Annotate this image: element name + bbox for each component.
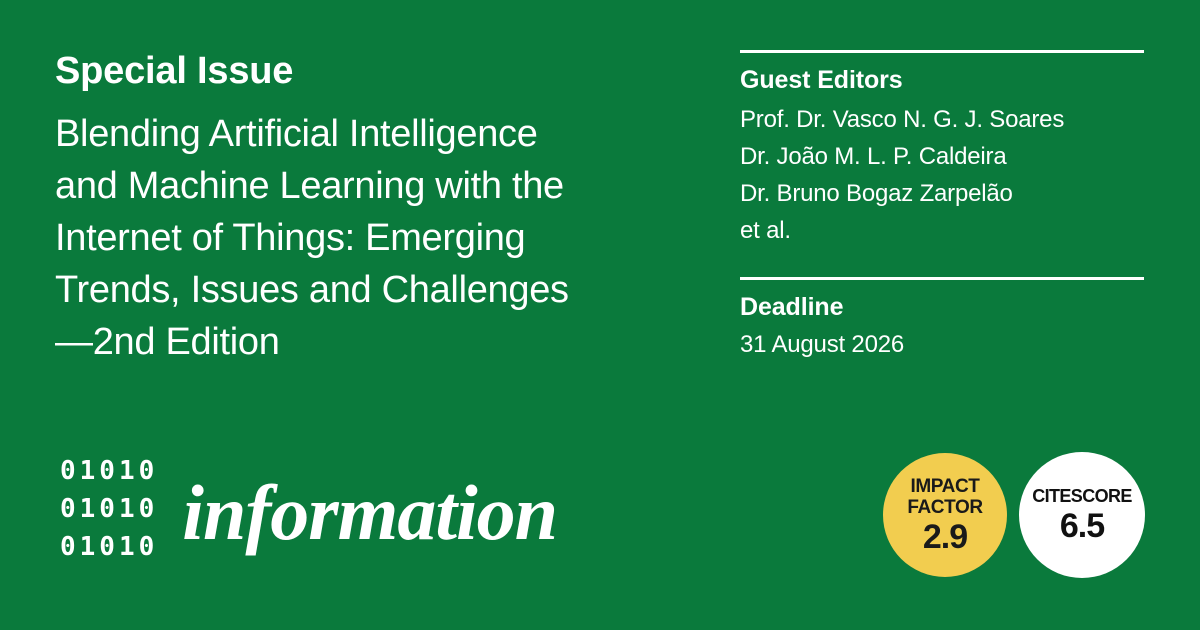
title-line: —2nd Edition xyxy=(55,321,280,363)
deadline-heading: Deadline xyxy=(740,292,1144,322)
citescore-badge: CITESCORE 6.5 xyxy=(1019,452,1145,578)
binary-row: 01010 xyxy=(60,528,158,566)
title-line: Blending Artificial Intelligence xyxy=(55,113,538,155)
journal-logo: 01010 01010 01010 information xyxy=(60,452,557,566)
issue-info-column: Special Issue Blending Artificial Intell… xyxy=(55,48,695,368)
divider-deadline xyxy=(740,277,1144,280)
title-line: and Machine Learning with the xyxy=(55,165,564,207)
list-item: et al. xyxy=(740,212,1144,249)
editorial-details-column: Guest Editors Prof. Dr. Vasco N. G. J. S… xyxy=(740,50,1144,362)
list-item: Prof. Dr. Vasco N. G. J. Soares xyxy=(740,101,1144,138)
title-line: Trends, Issues and Challenges xyxy=(55,269,569,311)
list-item: Dr. Bruno Bogaz Zarpelão xyxy=(740,175,1144,212)
deadline-date: 31 August 2026 xyxy=(740,328,1144,362)
guest-editors-list: Prof. Dr. Vasco N. G. J. Soares Dr. João… xyxy=(740,101,1144,249)
impact-factor-badge: IMPACT FACTOR 2.9 xyxy=(883,453,1007,577)
citescore-label: CITESCORE xyxy=(1032,486,1132,507)
list-item: Dr. João M. L. P. Caldeira xyxy=(740,138,1144,175)
impact-factor-label: IMPACT FACTOR xyxy=(907,476,982,518)
binary-row: 01010 xyxy=(60,490,158,528)
guest-editors-block: Guest Editors Prof. Dr. Vasco N. G. J. S… xyxy=(740,65,1144,249)
deadline-block: Deadline 31 August 2026 xyxy=(740,277,1144,362)
binary-row: 01010 xyxy=(60,452,158,490)
title-line: Internet of Things: Emerging xyxy=(55,217,525,259)
special-issue-poster: Special Issue Blending Artificial Intell… xyxy=(0,0,1200,630)
binary-pattern-icon: 01010 01010 01010 xyxy=(60,452,158,566)
impact-factor-value: 2.9 xyxy=(923,519,967,555)
guest-editors-heading: Guest Editors xyxy=(740,65,1144,95)
journal-wordmark: information xyxy=(182,474,557,552)
citescore-value: 6.5 xyxy=(1060,508,1104,544)
journal-metrics: IMPACT FACTOR 2.9 CITESCORE 6.5 xyxy=(883,453,1145,583)
page-title: Blending Artificial Intelligence and Mac… xyxy=(55,108,695,368)
divider-top xyxy=(740,50,1144,53)
impact-factor-label-line1: IMPACT xyxy=(910,476,979,497)
impact-factor-label-line2: FACTOR xyxy=(907,497,982,518)
special-issue-kicker: Special Issue xyxy=(55,48,695,94)
